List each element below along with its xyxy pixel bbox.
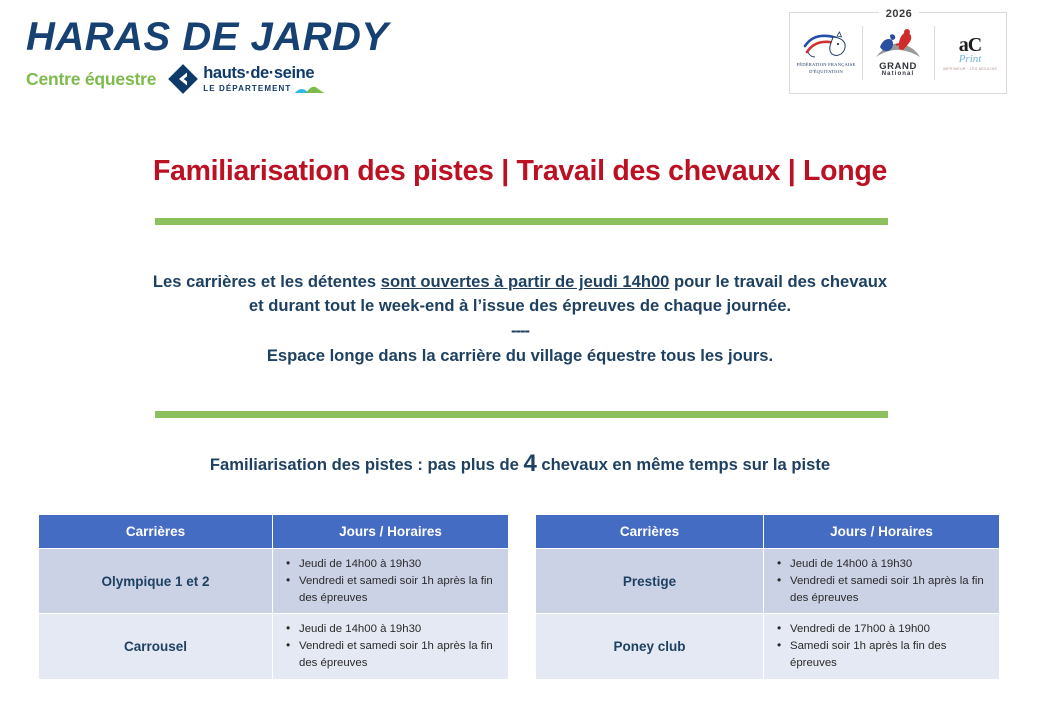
table-header-row: Carrières Jours / Horaires: [536, 515, 1000, 549]
ac-monogram: aC: [959, 35, 981, 55]
carriere-schedule: Jeudi de 14h00 à 19h30 Vendredi et samed…: [764, 549, 1000, 614]
hills-icon: [295, 83, 325, 93]
grand-national-caption: GRAND National: [879, 62, 917, 79]
haras-de-jardy-logo: HARAS DE JARDY Centre équestre hauts·de·…: [26, 16, 356, 94]
partner-year-text: 2026: [879, 8, 919, 20]
ffe-logo: FÉDÉRATION FRANÇAISE D'ÉQUITATION: [790, 22, 862, 84]
schedule-item: Jeudi de 14h00 à 19h30: [790, 556, 993, 573]
carriere-schedule: Jeudi de 14h00 à 19h30 Vendredi et samed…: [273, 614, 509, 679]
intro-line-3: Espace longe dans la carrière du village…: [60, 344, 980, 368]
carriere-name: Poney club: [536, 614, 764, 679]
table-header-row: Carrières Jours / Horaires: [39, 515, 509, 549]
ac-print-subtitle: IMPRIMEUR · LES MOULINS: [943, 67, 997, 71]
haras-subrow: Centre équestre hauts·de·seine LE DÉPART…: [26, 64, 356, 94]
rule-prefix: Familiarisation des pistes : pas plus de: [210, 455, 524, 474]
intro-line-1: Les carrières et les détentes sont ouver…: [60, 270, 980, 294]
header-carrieres: Carrières: [39, 515, 273, 549]
grand-national-logo: GRAND National: [862, 22, 934, 84]
schedule-item: Vendredi et samedi soir 1h après la fin …: [299, 638, 502, 672]
schedule-item: Samedi soir 1h après la fin des épreuves: [790, 638, 993, 672]
carriere-name: Prestige: [536, 549, 764, 614]
intro-line-2: et durant tout le week-end à l’issue des…: [60, 294, 980, 318]
rule-horse-count: 4: [523, 450, 536, 477]
ffe-caption: FÉDÉRATION FRANÇAISE D'ÉQUITATION: [796, 62, 855, 76]
grand-national-riders-icon: [872, 27, 924, 61]
schedule-item: Jeudi de 14h00 à 19h30: [299, 556, 502, 573]
haras-tagline: Centre équestre: [26, 69, 156, 90]
familiarisation-rule: Familiarisation des pistes : pas plus de…: [0, 450, 1040, 478]
partner-logo-row: FÉDÉRATION FRANÇAISE D'ÉQUITATION GRAND …: [790, 13, 1006, 93]
green-divider-top: [155, 218, 888, 225]
schedule-item: Vendredi et samedi soir 1h après la fin …: [299, 573, 502, 607]
haras-wordmark: HARAS DE JARDY: [26, 16, 356, 58]
schedule-item: Vendredi de 17h00 à 19h00: [790, 621, 993, 638]
schedule-list: Jeudi de 14h00 à 19h30 Vendredi et samed…: [283, 556, 502, 606]
green-divider-middle: [155, 411, 888, 418]
partner-year-label: 2026: [790, 4, 1008, 22]
rule-suffix: chevaux en même temps sur la piste: [537, 455, 830, 474]
header-carrieres: Carrières: [536, 515, 764, 549]
intro-line1-underlined: sont ouvertes à partir de jeudi 14h00: [381, 272, 670, 291]
schedule-table-left: Carrières Jours / Horaires Olympique 1 e…: [38, 514, 509, 680]
schedule-list: Vendredi de 17h00 à 19h00 Samedi soir 1h…: [774, 621, 993, 671]
carriere-schedule: Vendredi de 17h00 à 19h00 Samedi soir 1h…: [764, 614, 1000, 679]
intro-line1-part2: pour le travail des chevaux: [669, 272, 887, 291]
ffe-horse-head-icon: [801, 30, 851, 60]
intro-line1-part1: Les carrières et les détentes: [153, 272, 381, 291]
hds-text-block: hauts·de·seine LE DÉPARTEMENT: [203, 65, 325, 93]
gn-grand-text: GRAND: [879, 62, 917, 72]
carriere-name: Olympique 1 et 2: [39, 549, 273, 614]
ac-print-script: Print: [959, 54, 982, 65]
partner-logos-card: 2026 FÉDÉRATION FRANÇAISE D'ÉQUITATION: [789, 12, 1007, 94]
header-jours-horaires: Jours / Horaires: [764, 515, 1000, 549]
hds-subtitle: LE DÉPARTEMENT: [203, 85, 291, 93]
diamond-chevron-icon: [168, 64, 198, 94]
table-row: Prestige Jeudi de 14h00 à 19h30 Vendredi…: [536, 549, 1000, 614]
schedule-list: Jeudi de 14h00 à 19h30 Vendredi et samed…: [283, 621, 502, 671]
carriere-schedule: Jeudi de 14h00 à 19h30 Vendredi et samed…: [273, 549, 509, 614]
intro-separator: ----: [60, 319, 980, 343]
table-row: Carrousel Jeudi de 14h00 à 19h30 Vendred…: [39, 614, 509, 679]
hds-name: hauts·de·seine: [203, 65, 325, 82]
carriere-name: Carrousel: [39, 614, 273, 679]
gn-national-text: National: [879, 71, 917, 79]
hauts-de-seine-logo: hauts·de·seine LE DÉPARTEMENT: [168, 64, 325, 94]
header-jours-horaires: Jours / Horaires: [273, 515, 509, 549]
intro-paragraph: Les carrières et les détentes sont ouver…: [60, 270, 980, 367]
hds-dept-row: LE DÉPARTEMENT: [203, 83, 325, 93]
table-row: Poney club Vendredi de 17h00 à 19h00 Sam…: [536, 614, 1000, 679]
schedule-table-right: Carrières Jours / Horaires Prestige Jeud…: [535, 514, 1000, 680]
page-header: HARAS DE JARDY Centre équestre hauts·de·…: [0, 0, 1040, 112]
ac-print-logo: aC Print IMPRIMEUR · LES MOULINS: [934, 22, 1006, 84]
ffe-caption-line1: FÉDÉRATION FRANÇAISE: [796, 62, 855, 69]
ffe-caption-line2: D'ÉQUITATION: [796, 69, 855, 76]
page-title: Familiarisation des pistes | Travail des…: [0, 155, 1040, 188]
schedule-item: Jeudi de 14h00 à 19h30: [299, 621, 502, 638]
schedule-list: Jeudi de 14h00 à 19h30 Vendredi et samed…: [774, 556, 993, 606]
schedule-item: Vendredi et samedi soir 1h après la fin …: [790, 573, 993, 607]
table-row: Olympique 1 et 2 Jeudi de 14h00 à 19h30 …: [39, 549, 509, 614]
